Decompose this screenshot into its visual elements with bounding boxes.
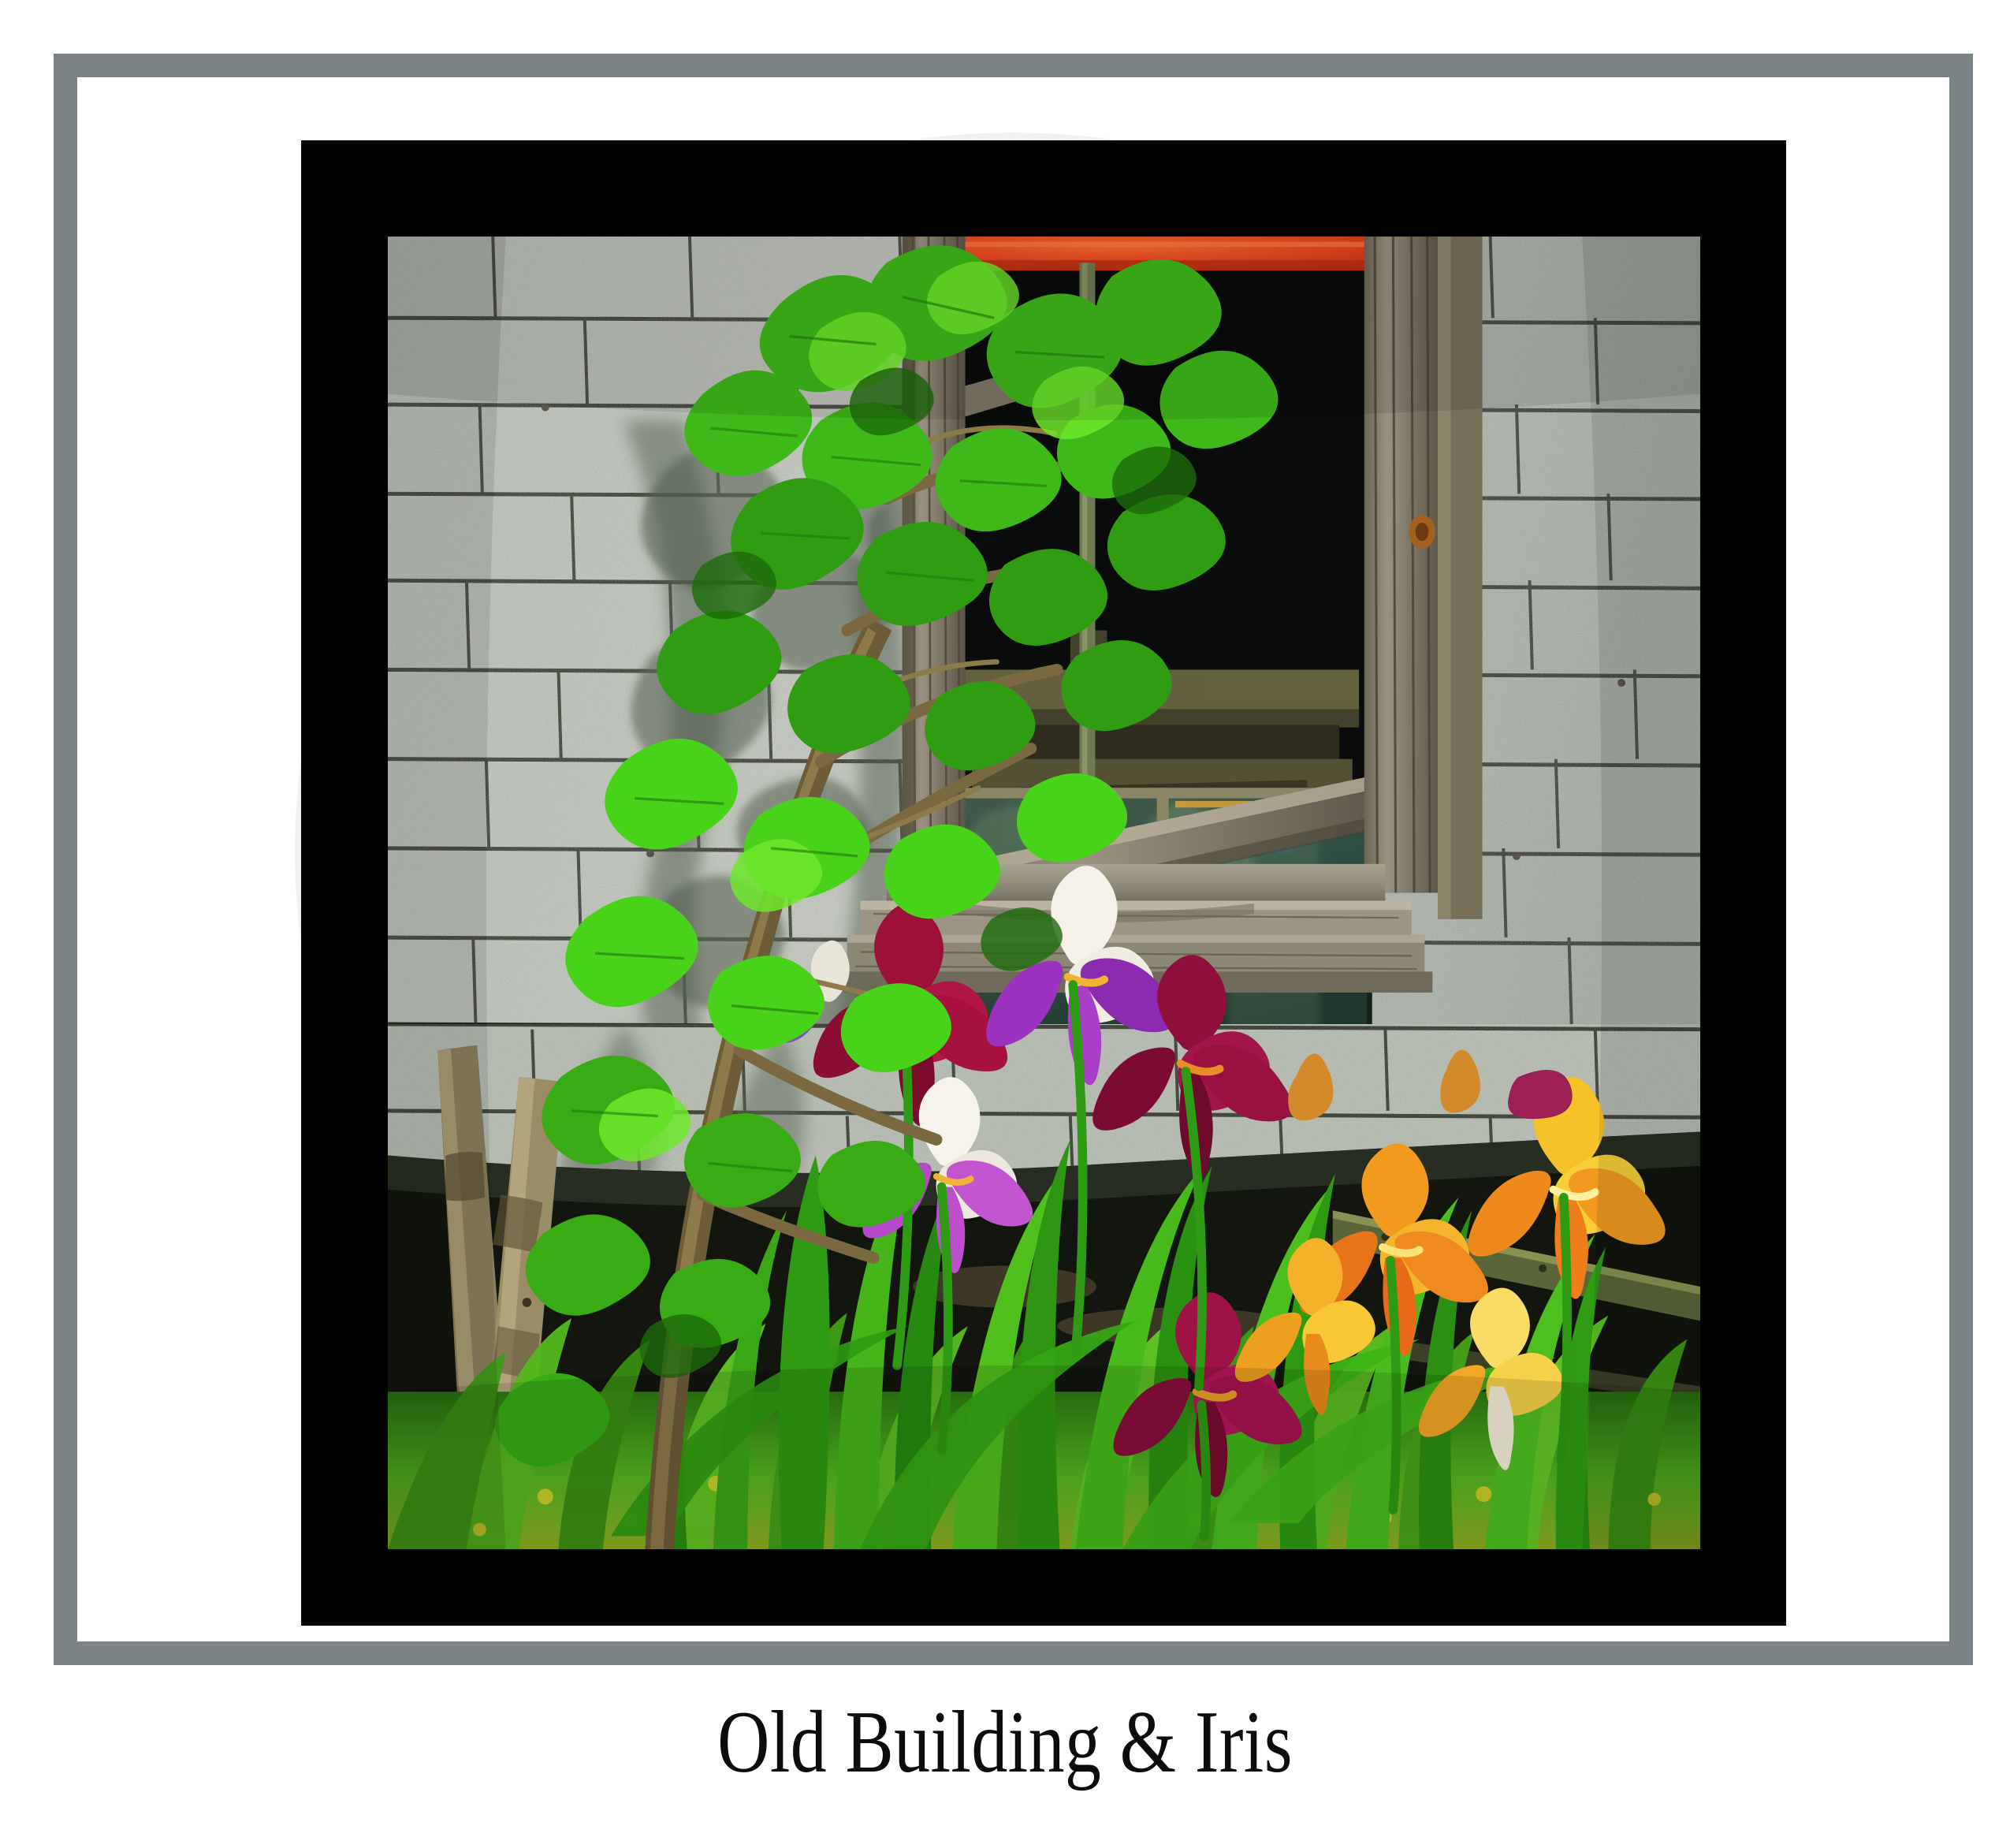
- white-mat: [77, 77, 1949, 1641]
- artwork-frame: [54, 54, 1973, 1665]
- artwork-title: Old Building & Iris: [181, 1695, 1829, 1790]
- photograph: [388, 237, 1700, 1549]
- black-inner-mat: [301, 140, 1786, 1626]
